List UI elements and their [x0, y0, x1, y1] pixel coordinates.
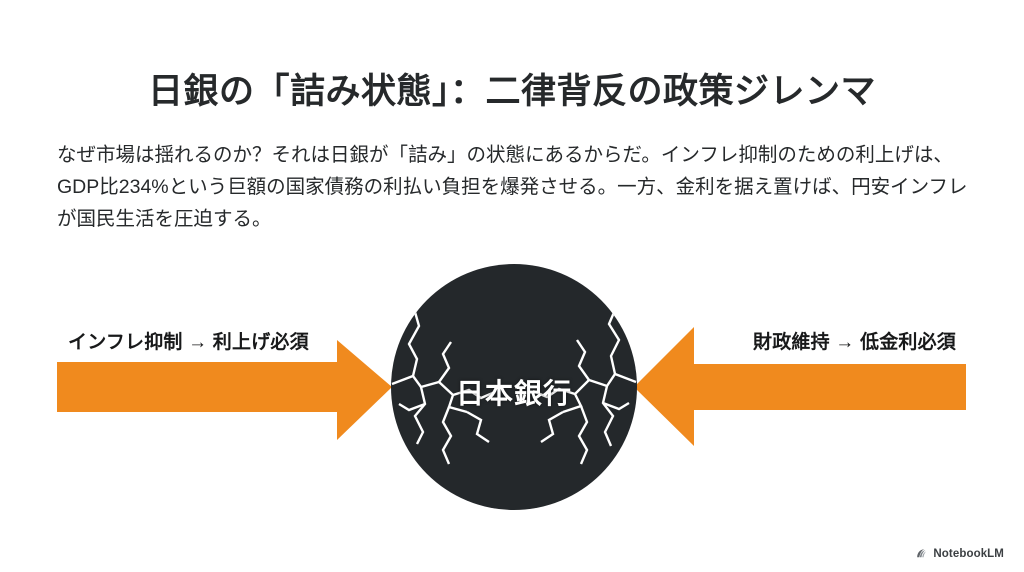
policy-dilemma-diagram: インフレ抑制 → 利上げ必須 財政維持 → 低金利必須: [0, 250, 1024, 530]
right-arrow-label: 財政維持 → 低金利必須: [753, 327, 956, 354]
page-title: 日銀の「詰み状態」：二律背反の政策ジレンマ: [0, 69, 1024, 115]
central-bank-label: 日本銀行: [391, 372, 637, 412]
notebooklm-icon: [915, 547, 928, 560]
arrow-right-icon: [57, 340, 392, 440]
slide-canvas: 日銀の「詰み状態」：二律背反の政策ジレンマ なぜ市場は揺れるのか？それは日銀が「…: [0, 0, 1024, 572]
notebooklm-label: NotebookLM: [933, 548, 1004, 560]
body-paragraph: なぜ市場は揺れるのか？それは日銀が「詰み」の状態にあるからだ。インフレ抑制のため…: [57, 139, 969, 235]
central-bank-node: 日本銀行: [391, 264, 637, 510]
notebooklm-branding: NotebookLM: [915, 547, 1004, 560]
left-arrow-label: インフレ抑制 → 利上げ必須: [68, 327, 309, 354]
